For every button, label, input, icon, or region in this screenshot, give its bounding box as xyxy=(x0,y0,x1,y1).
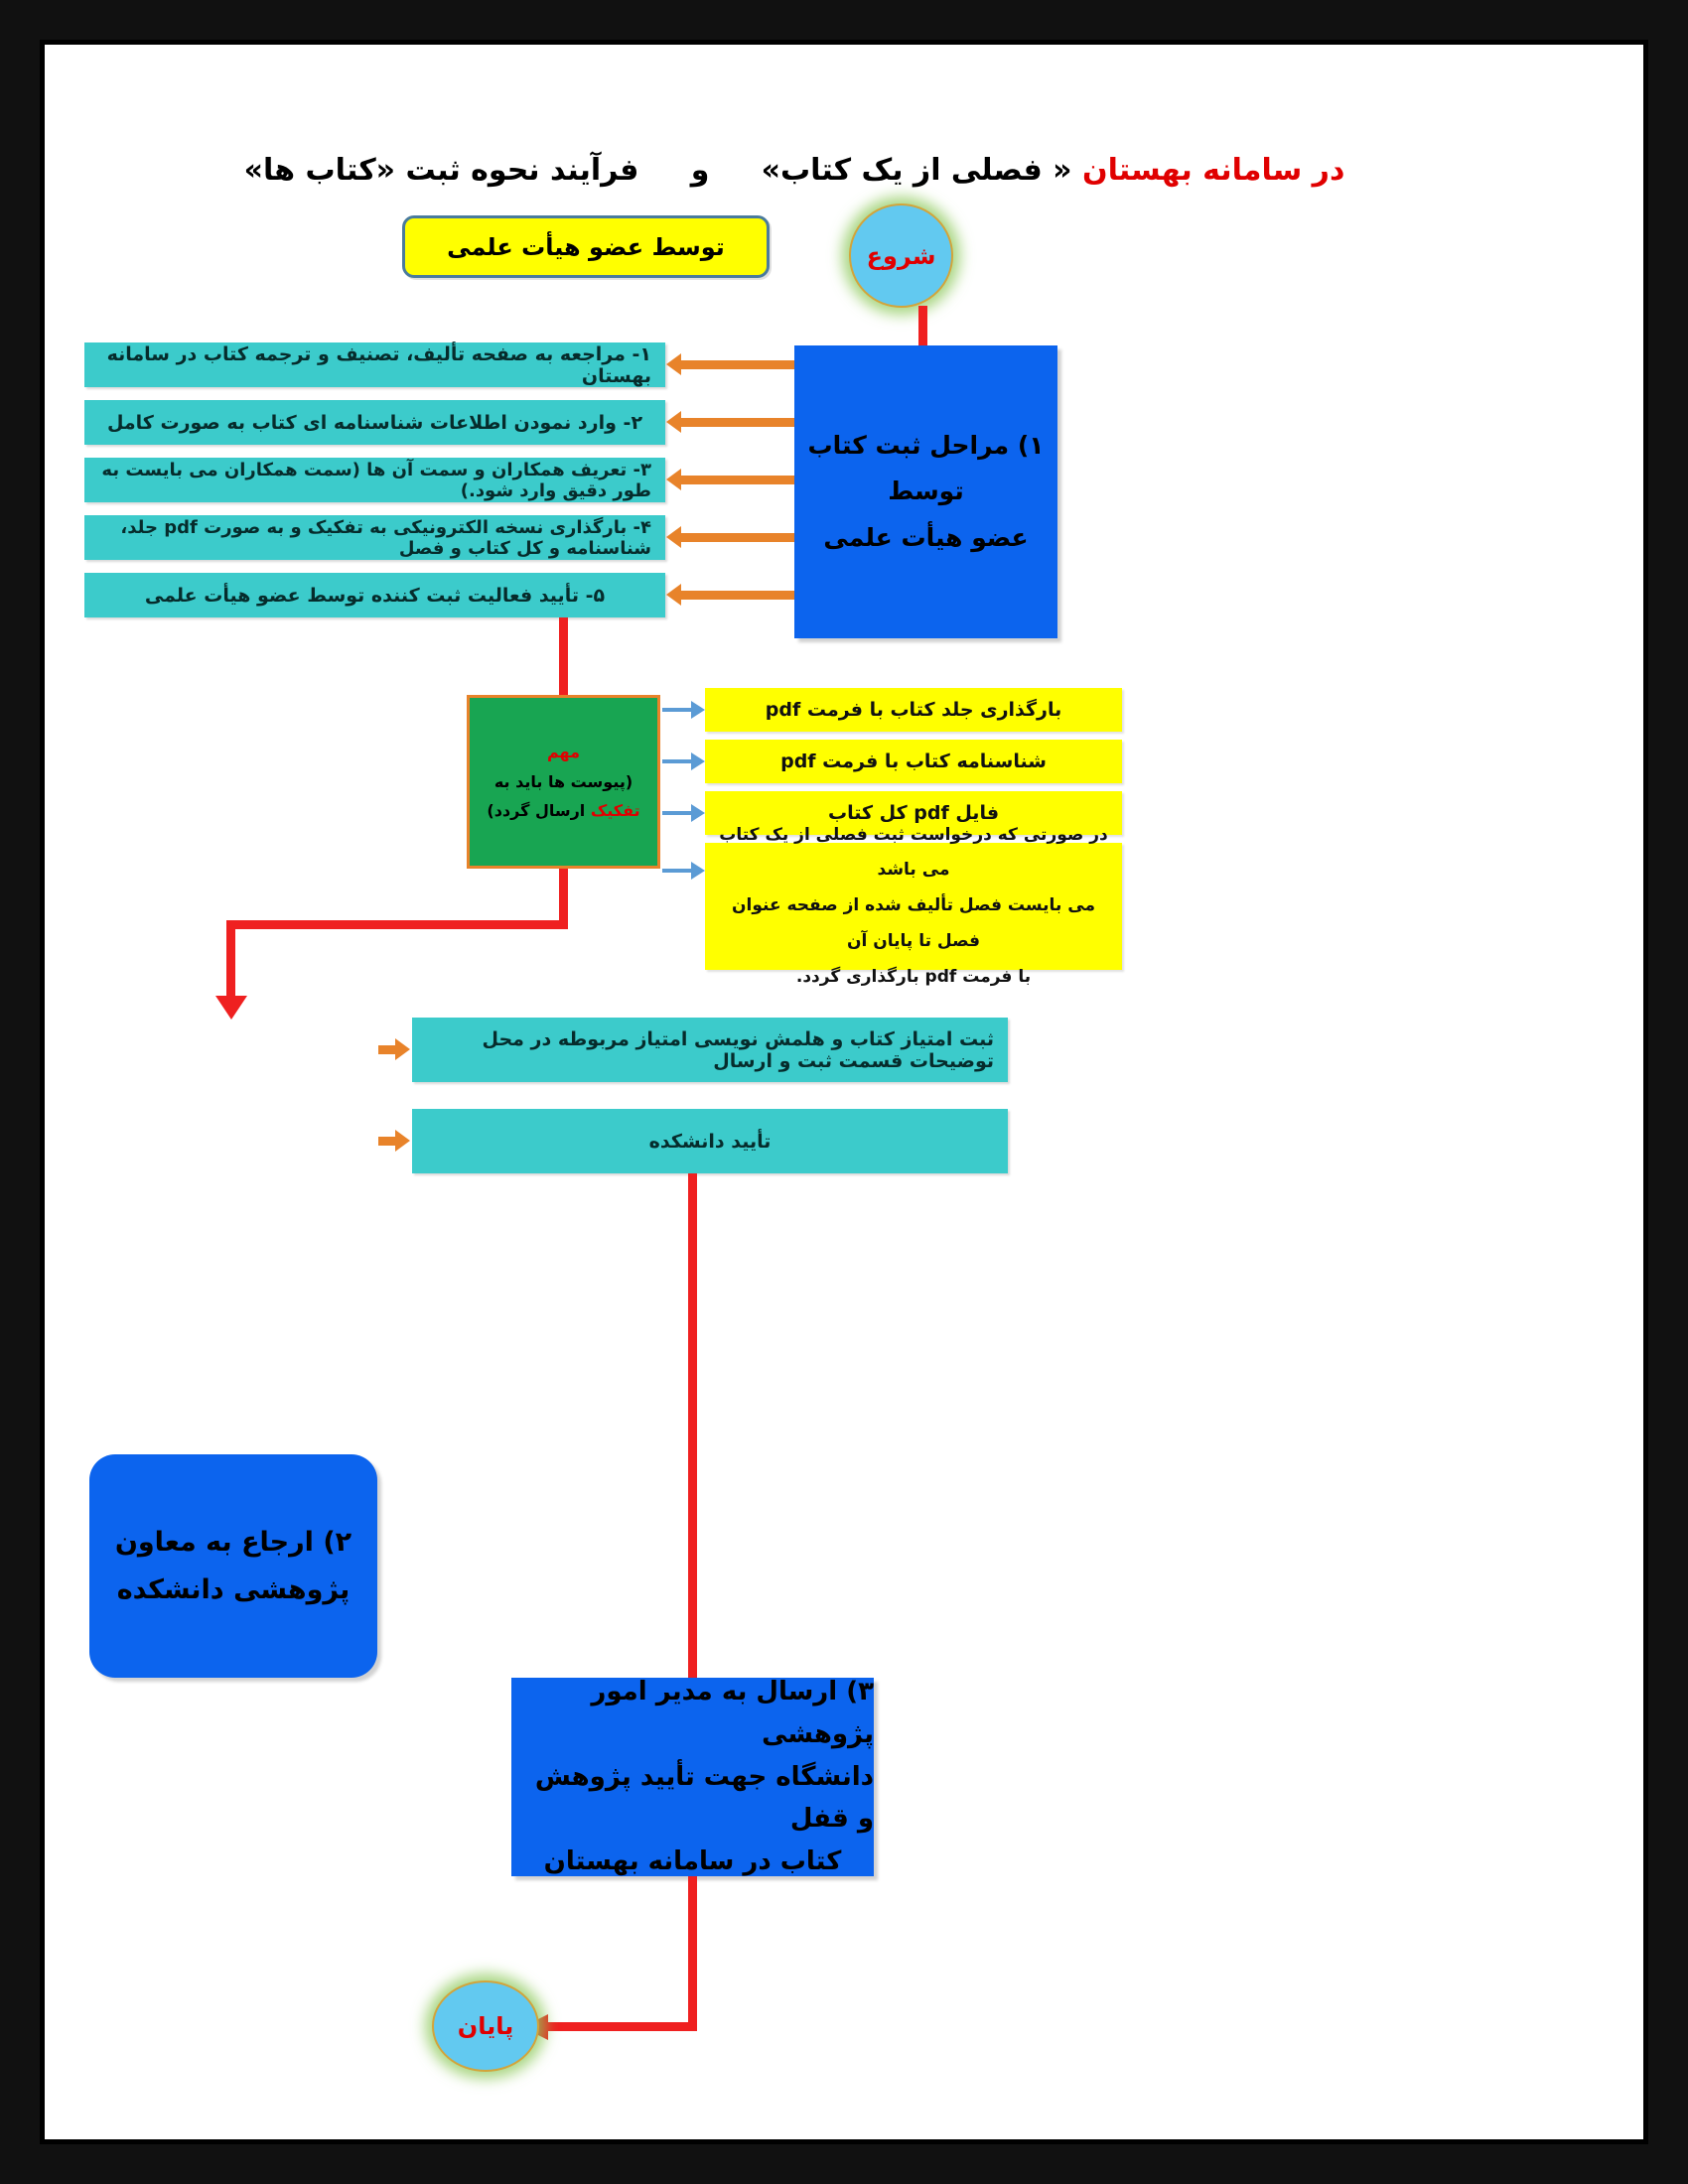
connector-stage2-to-stage3 xyxy=(688,1173,697,1678)
arrow-head-stage1-step-5-icon xyxy=(666,584,681,606)
stage2-step-1-label: ثبت امتیاز کتاب و هلمش نویسی امتیاز مربو… xyxy=(426,1028,994,1072)
stage1-step-1-label: ۱- مراجعه به صفحه تألیف، تصنیف و ترجمه ک… xyxy=(98,343,651,387)
stage1-step-3[interactable]: ۳- تعریف همکاران و سمت آن ها (سمت همکارا… xyxy=(84,458,665,502)
arrow-head-to-stage2-icon xyxy=(215,996,247,1020)
connector-important-down xyxy=(559,869,568,928)
arrow-stage1-step-3 xyxy=(681,476,794,484)
page-title: در سامانه بهستان « فصلی از یک کتاب» و فر… xyxy=(134,152,1455,190)
arrow-stage1-step-1 xyxy=(681,360,794,369)
arrow-stage2-step-1 xyxy=(378,1045,396,1054)
stage2-box-line-2: پژوهشی دانشکده xyxy=(117,1567,351,1613)
stage3-box[interactable]: ۳) ارسال به مدیر امور پژوهشی دانشگاه جهت… xyxy=(511,1678,874,1876)
stage2-step-2-label: تأیید دانشکده xyxy=(649,1131,772,1153)
important-line-3: تفکیک ارسال گردد) xyxy=(487,796,639,826)
important-note-box[interactable]: مهم (پیوست ها باید به تفکیک ارسال گردد) xyxy=(467,695,660,869)
header-yellow-label: توسط عضو هیأت علمی xyxy=(447,233,725,261)
arrow-head-attachment-note-icon xyxy=(691,862,705,880)
arrow-head-stage1-step-3-icon xyxy=(666,469,681,490)
stage2-box-line-1: ۲) ارجاع به معاون xyxy=(115,1519,352,1566)
arrow-attachment-2 xyxy=(662,759,692,763)
page-frame: در سامانه بهستان « فصلی از یک کتاب» و فر… xyxy=(40,40,1648,2144)
important-line-3-rest: ارسال گردد) xyxy=(487,801,585,820)
stage1-step-2-label: ۲- وارد نمودن اطلاعات شناسنامه ای کتاب ب… xyxy=(107,412,642,434)
stage3-box-line-2: دانشگاه جهت تأیید پژوهش و قفل xyxy=(511,1756,874,1842)
arrow-stage1-step-4 xyxy=(681,533,794,542)
arrow-attachment-3 xyxy=(662,811,692,815)
attachment-box-1[interactable]: بارگذاری جلد کتاب با فرمت pdf xyxy=(705,688,1122,732)
attachment-note-line-2: می بایست فصل تألیف شده از صفحه عنوان فصل… xyxy=(717,888,1110,959)
stage2-step-1[interactable]: ثبت امتیاز کتاب و هلمش نویسی امتیاز مربو… xyxy=(412,1018,1008,1082)
start-label: شروع xyxy=(867,242,936,270)
arrow-head-stage2-step-1-icon xyxy=(395,1038,410,1060)
attachment-box-2[interactable]: شناسنامه کتاب با فرمت pdf xyxy=(705,740,1122,783)
attachment-box-2-label: شناسنامه کتاب با فرمت pdf xyxy=(780,751,1047,772)
page-background: در سامانه بهستان « فصلی از یک کتاب» و فر… xyxy=(0,0,1688,2184)
end-terminator[interactable]: پایان xyxy=(432,1980,539,2072)
arrow-stage1-step-2 xyxy=(681,418,794,427)
connector-stage3-to-end xyxy=(546,2022,697,2031)
attachment-note-box[interactable]: در صورتی که درخواست ثبت فصلی از یک کتاب … xyxy=(705,843,1122,970)
title-red-segment: در سامانه بهستان xyxy=(1082,153,1344,188)
stage1-step-4-label: ۴- بارگذاری نسخه الکترونیکی به تفکیک و ب… xyxy=(98,517,651,559)
stage1-step-5[interactable]: ۵- تأیید فعالیت ثبت کننده توسط عضو هیأت … xyxy=(84,573,665,617)
connector-important-down2 xyxy=(226,920,235,1000)
stage2-box[interactable]: ۲) ارجاع به معاون پژوهشی دانشکده xyxy=(89,1454,377,1678)
important-heading: مهم xyxy=(547,738,580,767)
stage1-step-2[interactable]: ۲- وارد نمودن اطلاعات شناسنامه ای کتاب ب… xyxy=(84,400,665,445)
arrow-head-stage1-step-4-icon xyxy=(666,526,681,548)
stage2-step-2[interactable]: تأیید دانشکده xyxy=(412,1109,1008,1173)
arrow-attachment-note xyxy=(662,869,692,873)
arrow-head-stage1-step-2-icon xyxy=(666,411,681,433)
flowchart-canvas: در سامانه بهستان « فصلی از یک کتاب» و فر… xyxy=(45,45,1653,2149)
attachment-note-line-1: در صورتی که درخواست ثبت فصلی از یک کتاب … xyxy=(717,818,1110,888)
start-terminator[interactable]: شروع xyxy=(849,204,953,308)
arrow-stage1-step-5 xyxy=(681,591,794,600)
stage1-step-3-label: ۳- تعریف همکاران و سمت آن ها (سمت همکارا… xyxy=(98,460,651,501)
connector-stage1-to-important xyxy=(559,617,568,695)
attachment-box-1-label: بارگذاری جلد کتاب با فرمت pdf xyxy=(766,699,1062,721)
arrow-head-attachment-3-icon xyxy=(691,804,705,822)
arrow-attachment-1 xyxy=(662,708,692,712)
arrow-head-stage1-step-1-icon xyxy=(666,353,681,375)
important-line-3-highlight: تفکیک xyxy=(591,801,640,820)
title-black-segment-2: « فصلی از یک کتاب» xyxy=(762,153,1072,188)
attachment-note-line-3: با فرمت pdf بارگذاری گردد. xyxy=(796,960,1031,996)
stage1-box[interactable]: ۱) مراحل ثبت کتاب توسط عضو هیأت علمی xyxy=(794,345,1057,638)
stage1-box-line-2: توسط xyxy=(888,469,963,514)
stage1-step-1[interactable]: ۱- مراجعه به صفحه تألیف، تصنیف و ترجمه ک… xyxy=(84,342,665,387)
stage1-box-line-3: عضو هیأت علمی xyxy=(823,515,1028,561)
stage1-step-5-label: ۵- تأیید فعالیت ثبت کننده توسط عضو هیأت … xyxy=(145,585,605,607)
stage3-box-line-1: ۳) ارسال به مدیر امور پژوهشی xyxy=(511,1671,874,1756)
important-line-2: (پیوست ها باید به xyxy=(494,767,633,797)
arrow-head-attachment-1-icon xyxy=(691,701,705,719)
end-label: پایان xyxy=(458,2012,514,2040)
connector-start-to-stage1 xyxy=(918,306,927,347)
arrow-head-stage2-step-2-icon xyxy=(395,1130,410,1152)
title-black-segment-1: فرآیند نحوه ثبت «کتاب ها» xyxy=(244,153,639,188)
stage1-box-line-1: ۱) مراحل ثبت کتاب xyxy=(807,423,1044,469)
title-conjunction: و xyxy=(691,153,710,188)
connector-stage3-down xyxy=(688,1876,697,2022)
connector-important-left xyxy=(226,920,568,929)
header-yellow-box[interactable]: توسط عضو هیأت علمی xyxy=(402,215,770,278)
arrow-stage2-step-2 xyxy=(378,1137,396,1146)
stage1-step-4[interactable]: ۴- بارگذاری نسخه الکترونیکی به تفکیک و ب… xyxy=(84,515,665,560)
arrow-head-attachment-2-icon xyxy=(691,752,705,770)
